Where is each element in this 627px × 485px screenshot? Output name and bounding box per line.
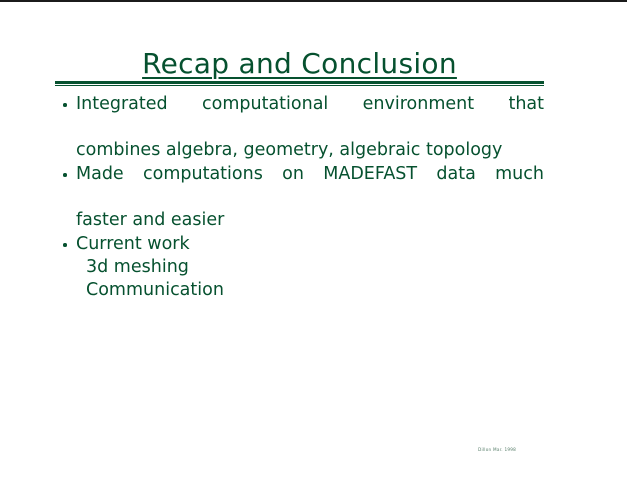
sub-list-item: Communication — [86, 279, 544, 302]
sub-list-item: 3d meshing — [86, 256, 544, 279]
bullet-line-1: Made computations on MADEFAST data much — [76, 163, 544, 209]
bullet-text: Current work — [76, 233, 544, 256]
bullet-line-2: combines algebra, geometry, algebraic to… — [76, 140, 502, 160]
page-title: Recap and Conclusion — [55, 48, 544, 80]
dot-bullet-icon — [63, 243, 67, 247]
dot-bullet-icon — [63, 173, 67, 177]
list-item: Current work 3d meshing Communication — [55, 233, 544, 302]
dot-bullet-icon — [63, 103, 67, 107]
footer-note: Dillon Mar. 1998 — [478, 446, 542, 453]
presentation-slide: Recap and Conclusion Integrated computat… — [0, 0, 627, 485]
bullet-text: Integrated computational environment tha… — [76, 93, 544, 162]
title-block: Recap and Conclusion — [55, 48, 544, 86]
list-item: Integrated computational environment tha… — [55, 93, 544, 162]
bullet-line-1: Integrated computational environment tha… — [76, 93, 544, 139]
bullet-text: Made computations on MADEFAST data much … — [76, 163, 544, 232]
list-item: Made computations on MADEFAST data much … — [55, 163, 544, 232]
bullet-line-2: faster and easier — [76, 210, 224, 230]
bullet-line-1: Current work — [76, 234, 190, 254]
sub-bullet-list: 3d meshing Communication — [76, 256, 544, 302]
title-rule-divider — [55, 81, 544, 86]
bullet-list: Integrated computational environment tha… — [55, 93, 544, 302]
